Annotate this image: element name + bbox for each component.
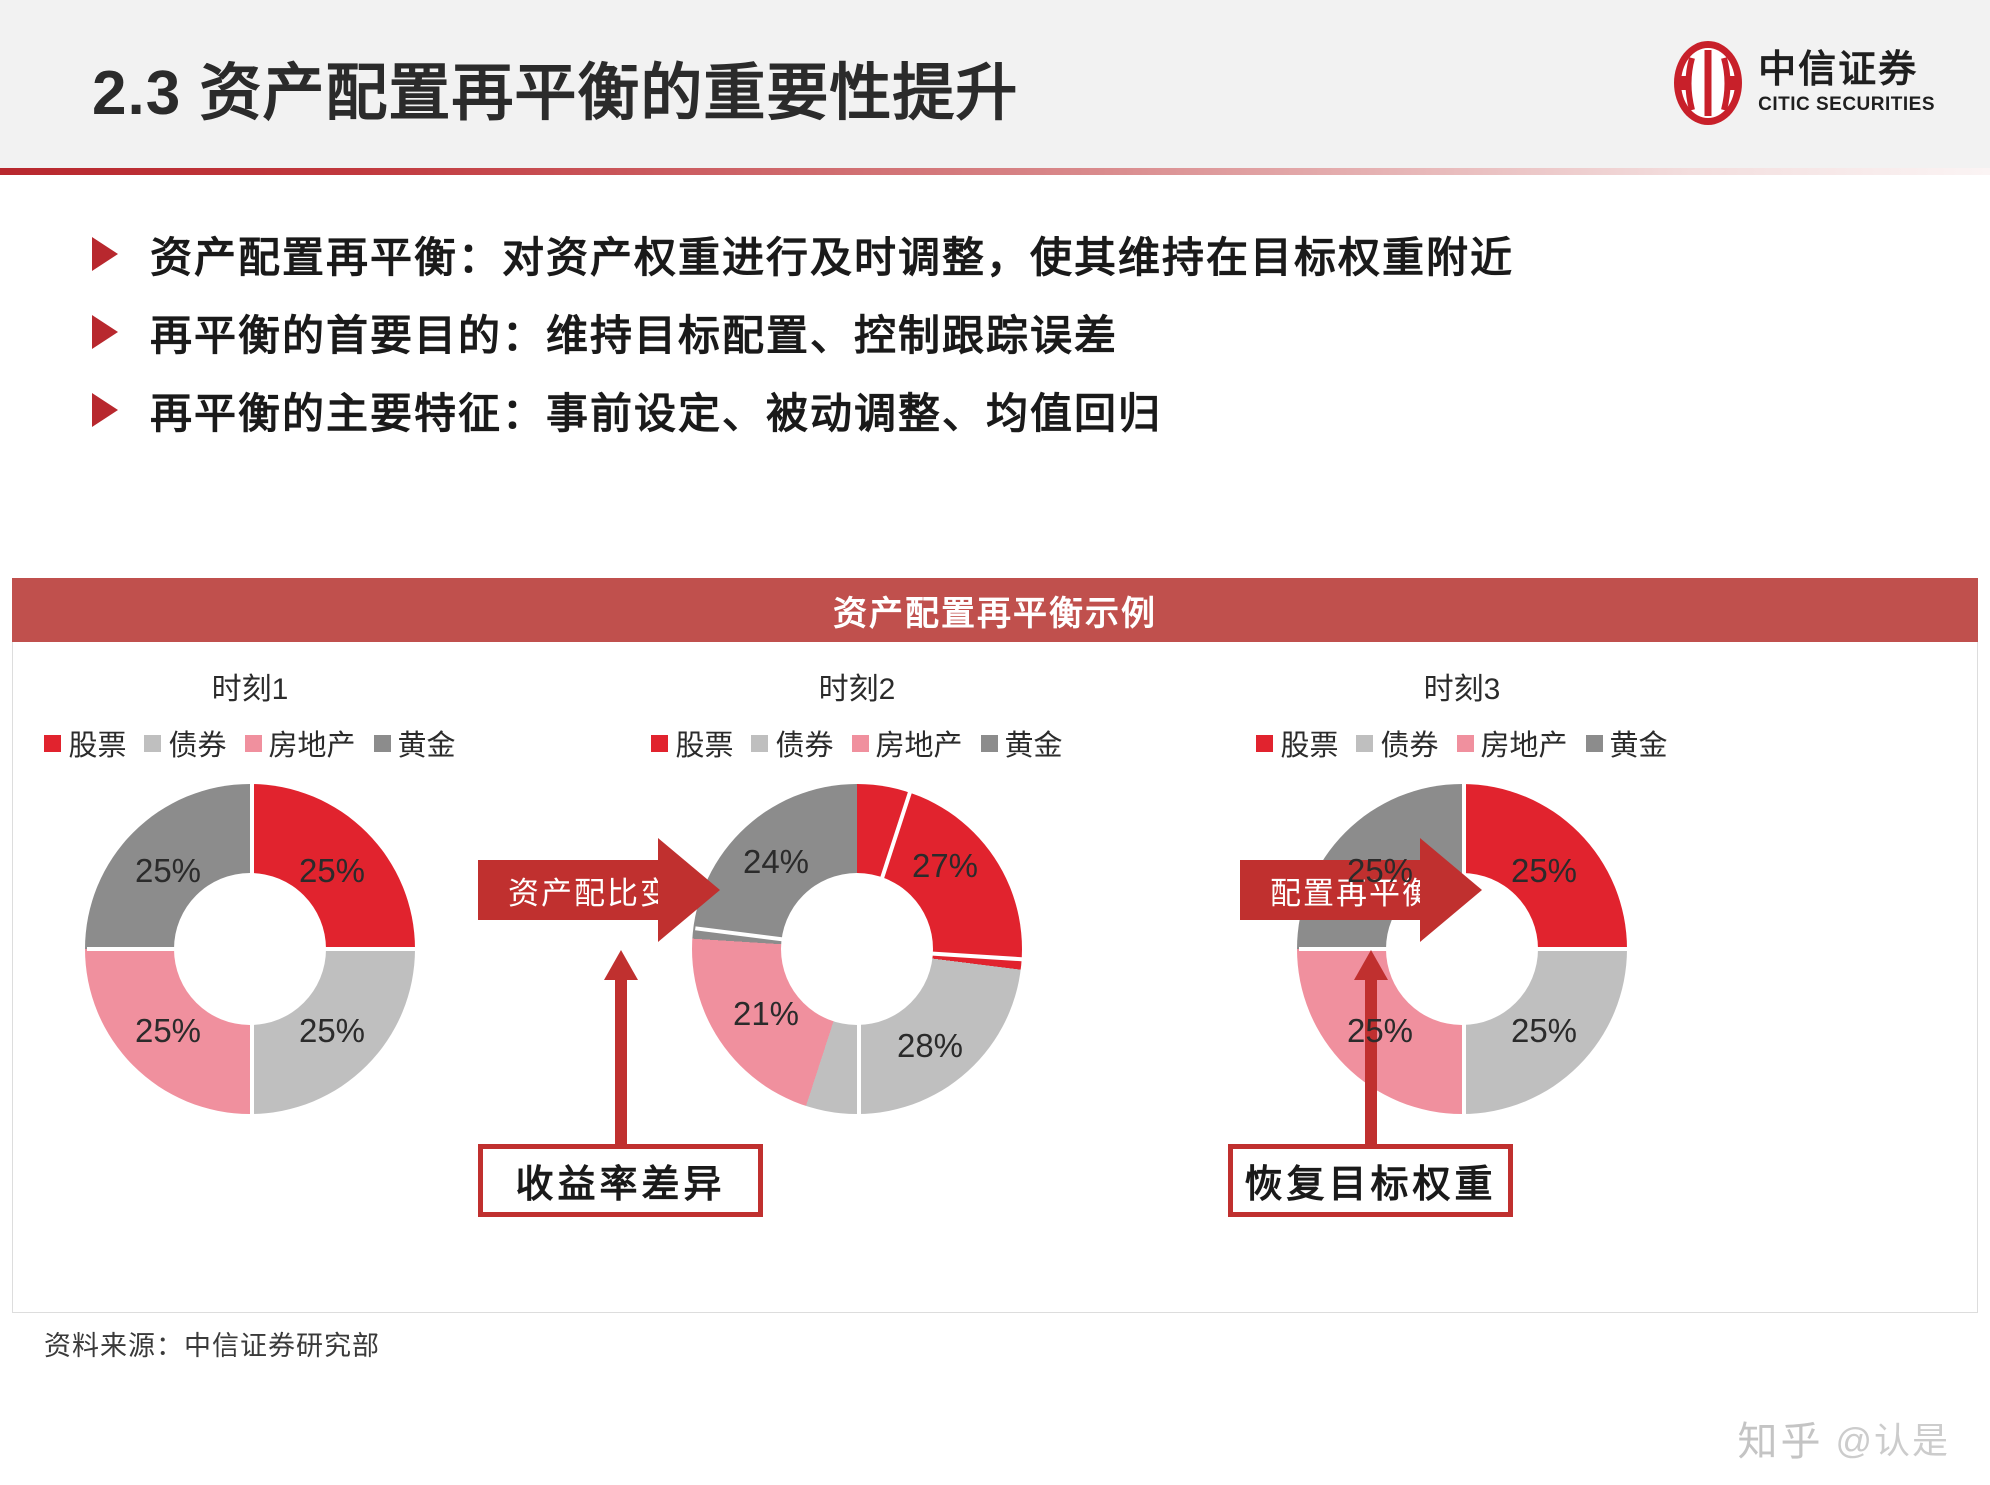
legend-label: 房地产: [269, 722, 356, 764]
slice-label: 25%: [1347, 1012, 1413, 1050]
list-item: 再平衡的首要目的：维持目标配置、控制跟踪误差: [0, 293, 1990, 371]
callout-box-2: 恢复目标权重: [1228, 1144, 1513, 1217]
legend-item: 房地产: [852, 722, 963, 764]
arrow-stem: [1365, 976, 1377, 1145]
legend-swatch-icon: [1356, 735, 1373, 752]
legend-swatch-icon: [44, 735, 61, 752]
legend-item: 债券: [144, 722, 226, 764]
slice-label: 28%: [897, 1027, 963, 1065]
legend-label: 股票: [68, 722, 126, 764]
donut-graphic: 25% 25% 25% 25%: [1297, 784, 1627, 1114]
page-header: 2.3 资产配置再平衡的重要性提升 中信证券 CITIC SECURITIES: [0, 0, 1990, 168]
charts-area: 时刻1 股票 债券 房地产 黄金 25%: [12, 642, 1978, 1314]
legend-swatch-icon: [852, 735, 869, 752]
arrow-head-icon: [1420, 838, 1482, 942]
slice-label: 27%: [912, 847, 978, 885]
slice-divider: [250, 784, 254, 949]
transition-arrow-1: 资产配比变化: [478, 838, 720, 942]
list-item: 资产配置再平衡：对资产权重进行及时调整，使其维持在目标权重附近: [0, 215, 1990, 293]
chart-title: 时刻2: [637, 664, 1077, 708]
legend-label: 黄金: [1610, 722, 1668, 764]
donut-graphic: 27% 28% 21% 24%: [692, 784, 1022, 1114]
legend-swatch-icon: [751, 735, 768, 752]
header-accent-rule: [0, 168, 1990, 175]
donut-graphic: 25% 25% 25% 25%: [85, 784, 415, 1114]
watermark: 知乎 @认是: [1737, 1409, 1950, 1467]
legend-label: 债券: [168, 722, 226, 764]
chart-panel-title-text: 资产配置再平衡示例: [833, 586, 1157, 635]
list-item: 再平衡的主要特征：事前设定、被动调整、均值回归: [0, 371, 1990, 449]
legend-item: 股票: [651, 722, 733, 764]
arrow-shaft: 资产配比变化: [478, 860, 660, 920]
page-title: 2.3 资产配置再平衡的重要性提升: [92, 42, 1018, 132]
callout-label: 恢复目标权重: [1244, 1153, 1496, 1208]
legend-label: 债券: [1380, 722, 1438, 764]
legend-swatch-icon: [1586, 735, 1603, 752]
slice-divider: [1464, 947, 1629, 951]
legend-swatch-icon: [144, 735, 161, 752]
bullet-text: 资产配置再平衡：对资产权重进行及时调整，使其维持在目标权重附近: [150, 224, 1514, 285]
legend-label: 黄金: [1005, 722, 1063, 764]
slice-divider: [87, 947, 252, 951]
legend-item: 黄金: [374, 722, 456, 764]
arrow-head-icon: [658, 838, 720, 942]
legend-swatch-icon: [245, 735, 262, 752]
legend-swatch-icon: [981, 735, 998, 752]
donut-chart-1: 时刻1 股票 债券 房地产 黄金 25%: [30, 642, 470, 1114]
legend-label: 黄金: [398, 722, 456, 764]
callout-connector-1: [604, 950, 638, 1145]
callout-label: 收益率差异: [515, 1153, 725, 1208]
chart-legend: 股票 债券 房地产 黄金: [637, 722, 1077, 764]
legend-label: 房地产: [876, 722, 963, 764]
legend-swatch-icon: [1256, 735, 1273, 752]
chart-title: 时刻3: [1242, 664, 1682, 708]
watermark-brand: 知乎: [1737, 1409, 1823, 1467]
callout-box-1: 收益率差异: [478, 1144, 763, 1217]
logo-text-en: CITIC SECURITIES: [1758, 94, 1935, 116]
slice-label: 25%: [299, 1012, 365, 1050]
brand-logo: 中信证券 CITIC SECURITIES: [1672, 40, 1935, 126]
legend-label: 股票: [1280, 722, 1338, 764]
citic-logo-icon: [1672, 40, 1744, 126]
slice-divider: [1462, 949, 1466, 1114]
slice-label: 25%: [1511, 852, 1577, 890]
logo-text-cn: 中信证券: [1758, 51, 1918, 89]
chart-title: 时刻1: [30, 664, 470, 708]
triangle-bullet-icon: [92, 393, 118, 427]
slice-label: 25%: [135, 1012, 201, 1050]
legend-label: 债券: [775, 722, 833, 764]
arrow-stem: [615, 976, 627, 1145]
watermark-user: @认是: [1835, 1412, 1950, 1464]
slice-divider: [250, 949, 254, 1114]
chart-legend: 股票 债券 房地产 黄金: [1242, 722, 1682, 764]
legend-item: 房地产: [1457, 722, 1568, 764]
triangle-bullet-icon: [92, 315, 118, 349]
slice-divider: [857, 949, 861, 1114]
legend-label: 股票: [675, 722, 733, 764]
bullet-text: 再平衡的首要目的：维持目标配置、控制跟踪误差: [150, 302, 1118, 363]
legend-item: 黄金: [1586, 722, 1668, 764]
chart-legend: 股票 债券 房地产 黄金: [30, 722, 470, 764]
legend-swatch-icon: [651, 735, 668, 752]
legend-item: 黄金: [981, 722, 1063, 764]
slice-label: 25%: [1347, 852, 1413, 890]
legend-item: 股票: [1256, 722, 1338, 764]
triangle-bullet-icon: [92, 237, 118, 271]
slice-divider: [252, 947, 417, 951]
legend-item: 债券: [751, 722, 833, 764]
legend-swatch-icon: [374, 735, 391, 752]
source-note: 资料来源：中信证券研究部: [44, 1324, 380, 1363]
slice-label: 25%: [135, 852, 201, 890]
slice-label: 25%: [299, 852, 365, 890]
legend-item: 债券: [1356, 722, 1438, 764]
legend-swatch-icon: [1457, 735, 1474, 752]
legend-item: 股票: [44, 722, 126, 764]
slice-label: 21%: [733, 995, 799, 1033]
legend-item: 房地产: [245, 722, 356, 764]
bullet-text: 再平衡的主要特征：事前设定、被动调整、均值回归: [150, 380, 1162, 441]
chart-panel-title: 资产配置再平衡示例: [12, 578, 1978, 642]
slice-label: 24%: [743, 843, 809, 881]
bullet-list: 资产配置再平衡：对资产权重进行及时调整，使其维持在目标权重附近 再平衡的首要目的…: [0, 215, 1990, 449]
legend-label: 房地产: [1481, 722, 1568, 764]
slice-label: 25%: [1511, 1012, 1577, 1050]
